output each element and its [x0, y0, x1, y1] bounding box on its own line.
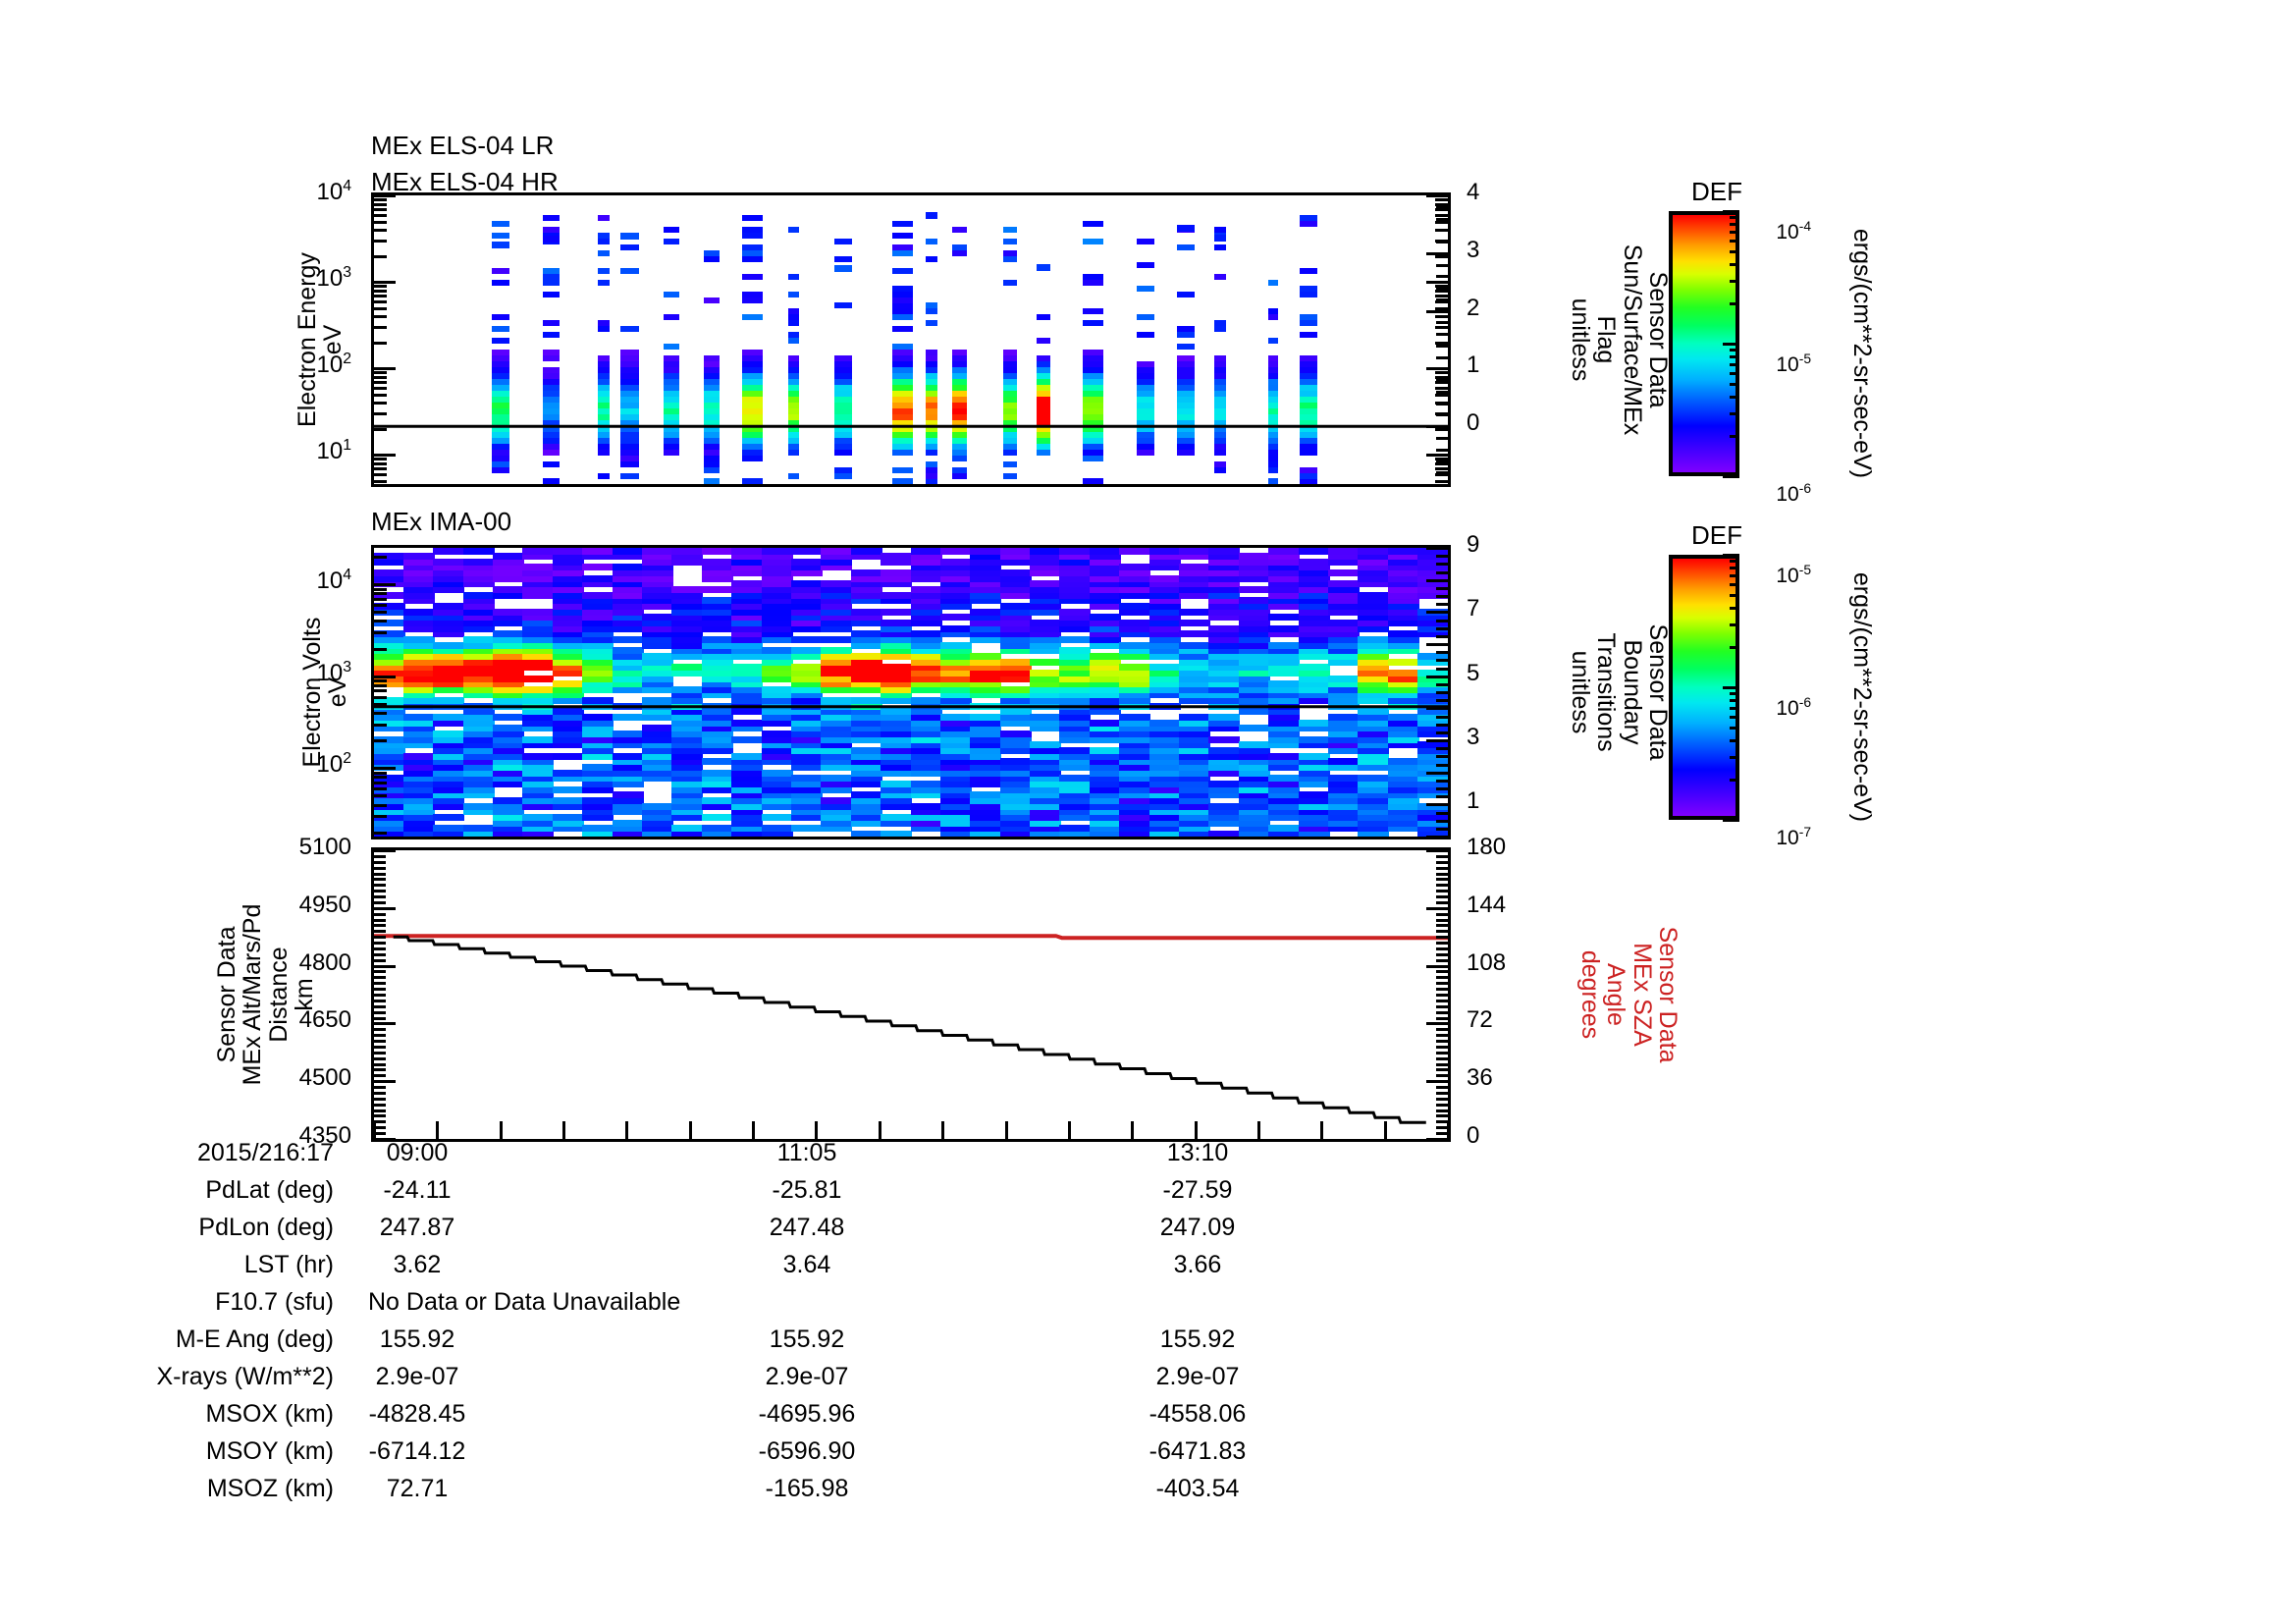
axis-tick [1436, 994, 1448, 997]
cb1-mid-base: 10 [1776, 353, 1798, 376]
axis-tick [374, 679, 387, 682]
axis-tick [374, 598, 387, 601]
axis-tick [1730, 363, 1739, 366]
axis-tick [374, 982, 386, 985]
ima-boundary-tick-9: 9 [1467, 533, 1525, 557]
axis-tick [1436, 895, 1448, 898]
axis-tick [1730, 383, 1739, 386]
els-flag-tick-0: 0 [1467, 411, 1525, 435]
axis-tick [1436, 1034, 1448, 1037]
axis-tick [374, 712, 387, 715]
axis-tick [1436, 795, 1448, 798]
axis-tick [1436, 988, 1448, 991]
axis-tick [879, 1121, 881, 1139]
axis-tick [1436, 595, 1448, 598]
axis-tick [1730, 302, 1739, 305]
cb1-mid-exp: -5 [1799, 351, 1811, 366]
axis-tick [374, 804, 387, 807]
axis-tick [1436, 668, 1448, 671]
axis-tick [1436, 855, 1448, 858]
axis-tick [1730, 250, 1739, 253]
axis-tick [374, 1028, 386, 1031]
parameter-value: 155.92 [1119, 1325, 1276, 1354]
ima-spectrogram-panel[interactable] [371, 545, 1451, 839]
sza-ylabel-right: Sensor Data MEx SZA Angle degrees [1577, 847, 1681, 1142]
axis-tick [374, 832, 387, 835]
axis-tick [1436, 716, 1448, 719]
parameter-value: -4695.96 [728, 1400, 885, 1429]
axis-tick [1426, 252, 1448, 255]
parameter-label: PdLat (deg) [0, 1176, 334, 1205]
axis-tick [1436, 747, 1448, 750]
axis-tick [1068, 1121, 1071, 1139]
axis-tick [1730, 372, 1739, 375]
parameter-value: 155.92 [339, 1325, 496, 1354]
parameter-value: -4828.45 [339, 1400, 496, 1429]
axis-tick [1436, 603, 1448, 606]
parameter-value: 3.64 [728, 1251, 885, 1279]
axis-tick [1730, 355, 1739, 358]
cb1-bot-base: 10 [1776, 483, 1798, 506]
axis-tick [1436, 1017, 1448, 1020]
els-title-hr: MEx ELS-04 HR [371, 169, 559, 194]
axis-tick [1436, 1068, 1448, 1071]
axis-tick [1436, 901, 1448, 904]
axis-tick [1426, 310, 1448, 313]
parameter-value: -6714.12 [339, 1437, 496, 1466]
axis-tick [1436, 699, 1448, 702]
colorbar2-top-label: 10-5 [1753, 545, 1811, 607]
axis-tick [374, 855, 386, 858]
axis-tick [1426, 1022, 1448, 1025]
axis-tick [374, 776, 387, 779]
axis-tick [1436, 241, 1448, 243]
parameter-value: 09:00 [339, 1139, 496, 1167]
axis-tick [1436, 1011, 1448, 1014]
axis-tick [1436, 206, 1448, 209]
axis-tick [1436, 764, 1448, 767]
axis-tick [1436, 651, 1448, 654]
axis-tick [374, 1080, 396, 1083]
axis-tick [1426, 547, 1448, 550]
axis-tick [374, 631, 387, 634]
axis-tick [374, 208, 387, 211]
axis-tick [374, 198, 387, 201]
axis-tick [374, 1074, 386, 1077]
ima-boundary-tick-7: 7 [1467, 597, 1525, 621]
axis-tick [374, 387, 387, 390]
axis-tick [374, 953, 386, 956]
axis-tick [1436, 878, 1448, 881]
els-flag-tick-3: 3 [1467, 239, 1525, 262]
axis-tick [1730, 646, 1739, 649]
axis-tick [1436, 413, 1448, 416]
axis-tick [1426, 907, 1448, 910]
axis-tick [1730, 223, 1739, 226]
altitude-sza-panel[interactable] [371, 847, 1451, 1142]
cb2-mid-exp: -6 [1799, 694, 1811, 710]
axis-tick [374, 930, 386, 933]
sza-tick-36: 36 [1467, 1066, 1535, 1090]
axis-tick [374, 815, 387, 818]
axis-tick [1436, 635, 1448, 638]
axis-tick [1436, 563, 1448, 566]
axis-tick [1436, 884, 1448, 887]
parameter-label: PdLon (deg) [0, 1214, 334, 1242]
cb2-mid-base: 10 [1776, 697, 1798, 720]
colorbar1-title: DEF [1691, 179, 1742, 204]
axis-tick [1426, 1080, 1448, 1083]
axis-tick [1436, 930, 1448, 933]
axis-tick [1435, 198, 1448, 201]
axis-tick [374, 901, 386, 904]
axis-tick [1435, 290, 1448, 293]
axis-tick [1436, 731, 1448, 734]
axis-tick [1730, 692, 1739, 695]
parameter-row: M-E Ang (deg)155.92155.92155.92 [0, 1325, 1571, 1363]
axis-tick [1131, 1121, 1134, 1139]
axis-tick [1723, 686, 1739, 689]
axis-tick [1723, 554, 1739, 557]
axis-tick [1730, 607, 1739, 610]
colorbar2-title: DEF [1691, 522, 1742, 548]
parameter-value: -4558.06 [1119, 1400, 1276, 1429]
axis-tick [1436, 1040, 1448, 1043]
axis-tick [1426, 965, 1448, 968]
ima-ylabel-right: Sensor Data Boundary Transitions unitles… [1568, 545, 1671, 839]
axis-tick [1730, 349, 1739, 352]
axis-tick [374, 739, 387, 742]
parameter-value: 2.9e-07 [728, 1363, 885, 1391]
axis-tick [1426, 454, 1448, 457]
axis-tick [1436, 1000, 1448, 1002]
axis-tick [1436, 970, 1448, 973]
axis-tick [1426, 676, 1448, 678]
ima-boundary-tick-3: 3 [1467, 726, 1525, 749]
axis-tick [1723, 475, 1739, 478]
axis-tick [374, 214, 387, 217]
axis-tick [374, 1046, 386, 1049]
axis-tick [1426, 643, 1448, 646]
axis-tick [1436, 356, 1448, 359]
ima-boundary-tick-1: 1 [1467, 789, 1525, 813]
parameter-value: 3.66 [1119, 1251, 1276, 1279]
els-spectrogram-panel[interactable] [371, 192, 1451, 487]
axis-tick [374, 342, 387, 345]
parameter-label: MSOX (km) [0, 1400, 334, 1429]
cb2-bot-base: 10 [1776, 827, 1798, 849]
axis-tick [689, 1121, 692, 1139]
parameter-label: X-rays (W/m**2) [0, 1363, 334, 1391]
axis-tick [1436, 571, 1448, 574]
axis-tick [374, 703, 387, 706]
axis-tick [1730, 583, 1739, 586]
axis-tick [1436, 787, 1448, 790]
axis-tick [374, 1017, 386, 1020]
parameter-value: -24.11 [339, 1176, 496, 1205]
axis-tick [374, 480, 387, 483]
axis-tick [1426, 425, 1448, 428]
axis-tick [374, 583, 396, 586]
parameter-value: 247.48 [728, 1214, 885, 1242]
parameter-value: 155.92 [728, 1325, 885, 1354]
els-ylabel-right: Sensor Data Sun/Surface/MEx Flag unitles… [1568, 192, 1671, 487]
axis-tick [1195, 1121, 1198, 1139]
axis-tick [815, 1121, 818, 1139]
colorbar2-mid-label: 10-6 [1753, 677, 1811, 739]
axis-tick [1436, 229, 1448, 232]
axis-tick [1435, 480, 1448, 483]
axis-tick [374, 402, 387, 405]
parameter-value: -25.81 [728, 1176, 885, 1205]
altitude-ylabel-left: Sensor Data MEx Alt/Mars/Pd Distance km [214, 847, 317, 1142]
axis-tick [1436, 947, 1448, 950]
axis-tick [1435, 221, 1448, 224]
axis-tick [1005, 1121, 1008, 1139]
axis-tick [374, 1005, 386, 1008]
axis-tick [374, 592, 387, 595]
axis-tick [1435, 214, 1448, 217]
axis-tick [374, 428, 387, 431]
axis-tick [1730, 263, 1739, 266]
axis-tick [1436, 812, 1448, 815]
axis-tick [374, 1098, 386, 1101]
axis-tick [1730, 574, 1739, 577]
cb2-bot-exp: -7 [1799, 824, 1811, 839]
colorbar2-bot-label: 10-7 [1753, 807, 1811, 869]
axis-tick [1436, 1092, 1448, 1095]
axis-tick [374, 965, 396, 968]
axis-tick [1723, 819, 1739, 822]
axis-tick [1730, 280, 1739, 283]
parameter-label: LST (hr) [0, 1251, 334, 1279]
axis-tick [374, 255, 387, 258]
axis-tick [1426, 836, 1448, 839]
axis-tick [1426, 194, 1448, 197]
axis-tick [374, 1011, 386, 1014]
axis-tick [1436, 1086, 1448, 1089]
parameter-label: MSOY (km) [0, 1437, 334, 1466]
cb1-top-base: 10 [1776, 221, 1798, 243]
axis-tick [374, 412, 387, 415]
axis-tick [374, 620, 387, 622]
axis-tick [374, 1086, 386, 1089]
colorbar2-unit: ergs/(cm**2-sr-sec-eV) [1849, 555, 1875, 839]
axis-tick [1730, 779, 1739, 782]
axis-tick [374, 970, 386, 973]
axis-tick [1436, 345, 1448, 348]
axis-tick [1730, 567, 1739, 569]
axis-tick [374, 221, 387, 224]
axis-tick [1436, 1098, 1448, 1101]
els-flag-tick-2: 2 [1467, 297, 1525, 320]
axis-tick [1436, 873, 1448, 876]
axis-tick [1436, 913, 1448, 916]
parameter-row: LST (hr)3.623.643.66 [0, 1251, 1571, 1288]
axis-tick [374, 458, 387, 460]
axis-tick [1436, 1063, 1448, 1066]
parameter-value: -6471.83 [1119, 1437, 1276, 1466]
axis-tick [374, 1040, 386, 1043]
axis-tick [1384, 1121, 1387, 1139]
axis-tick [374, 684, 387, 687]
ima-boundary-tick-5: 5 [1467, 662, 1525, 685]
axis-tick [374, 300, 387, 303]
axis-tick [1426, 367, 1448, 370]
axis-tick [1436, 890, 1448, 893]
axis-tick [374, 724, 387, 727]
axis-tick [1436, 724, 1448, 727]
parameter-row: MSOX (km)-4828.45-4695.96-4558.06 [0, 1400, 1571, 1437]
els-flag-tick-1: 1 [1467, 353, 1525, 377]
axis-tick [1426, 739, 1448, 742]
parameter-value: 3.62 [339, 1251, 496, 1279]
axis-tick [1426, 707, 1448, 710]
axis-tick [374, 1092, 386, 1095]
axis-tick [374, 924, 386, 927]
cb1-bot-exp: -6 [1799, 480, 1811, 496]
axis-tick [374, 873, 386, 876]
axis-tick [374, 285, 387, 288]
parameter-row: 2015/216:1709:0011:0513:10 [0, 1139, 1571, 1176]
axis-tick [374, 861, 386, 864]
parameter-value: 247.09 [1119, 1214, 1276, 1242]
axis-tick [373, 1121, 376, 1139]
axis-tick [1436, 976, 1448, 979]
axis-tick [1730, 396, 1739, 399]
axis-tick [374, 772, 387, 775]
axis-tick [1436, 620, 1448, 622]
axis-tick [1436, 780, 1448, 783]
parameter-row: MSOZ (km)72.71-165.98-403.54 [0, 1475, 1571, 1512]
axis-tick [1426, 579, 1448, 582]
axis-tick [1426, 803, 1448, 806]
axis-tick [374, 462, 387, 465]
axis-tick [1436, 953, 1448, 956]
axis-tick [374, 890, 386, 893]
axis-tick [374, 240, 387, 243]
axis-tick [1436, 627, 1448, 630]
axis-tick [374, 787, 387, 790]
axis-tick [374, 1057, 386, 1060]
axis-tick [1436, 1005, 1448, 1008]
axis-tick [1436, 1057, 1448, 1060]
axis-tick [1730, 699, 1739, 702]
axis-tick [1436, 1104, 1448, 1107]
axis-tick [374, 1109, 386, 1112]
axis-tick [374, 942, 386, 945]
els-title-lr: MEx ELS-04 LR [371, 133, 554, 158]
parameter-row: F10.7 (sfu)No Data or Data Unavailable [0, 1288, 1571, 1325]
axis-tick [374, 936, 386, 939]
parameter-table: 2015/216:1709:0011:0513:10PdLat (deg)-24… [0, 1139, 1571, 1512]
axis-tick [1730, 240, 1739, 243]
axis-tick [1436, 867, 1448, 870]
axis-tick [1730, 216, 1739, 219]
axis-tick [1436, 298, 1448, 301]
sza-tick-108: 108 [1467, 951, 1535, 975]
colorbar1-unit: ergs/(cm**2-sr-sec-eV) [1849, 211, 1875, 496]
axis-tick [374, 767, 396, 770]
colorbar1-bot-label: 10-6 [1753, 463, 1811, 525]
parameter-label: F10.7 (sfu) [0, 1288, 334, 1317]
axis-tick [374, 1022, 396, 1025]
axis-tick [1730, 435, 1739, 438]
axis-tick [1436, 691, 1448, 694]
axis-tick [1435, 462, 1448, 465]
axis-tick [1730, 623, 1739, 626]
axis-tick [1436, 437, 1448, 440]
axis-tick [374, 467, 387, 470]
axis-tick [1436, 982, 1448, 985]
axis-tick [1436, 333, 1448, 336]
axis-tick [1436, 1074, 1448, 1077]
axis-tick [1435, 326, 1448, 329]
axis-tick [1436, 936, 1448, 939]
axis-tick [374, 947, 386, 950]
axis-tick [1436, 403, 1448, 406]
axis-tick [1435, 315, 1448, 318]
axis-tick [374, 878, 386, 881]
axis-tick [1436, 861, 1448, 864]
axis-tick [1436, 379, 1448, 382]
axis-tick [1436, 755, 1448, 758]
axis-tick [562, 1121, 565, 1139]
axis-tick [1435, 255, 1448, 258]
ima-title: MEx IMA-00 [371, 509, 511, 534]
axis-tick [374, 454, 396, 457]
axis-tick [374, 1104, 386, 1107]
axis-tick [1435, 387, 1448, 390]
axis-tick [1723, 343, 1739, 346]
axis-tick [374, 371, 387, 374]
axis-tick [1730, 739, 1739, 742]
axis-tick [1436, 1109, 1448, 1112]
parameter-label: M-E Ang (deg) [0, 1325, 334, 1354]
axis-tick [1730, 560, 1739, 563]
axis-tick [374, 194, 396, 197]
parameter-value: 72.71 [339, 1475, 496, 1503]
parameter-row: PdLon (deg)247.87247.48247.09 [0, 1214, 1571, 1251]
axis-tick [1730, 716, 1739, 719]
sza-tick-72: 72 [1467, 1008, 1535, 1032]
axis-tick [1436, 1114, 1448, 1117]
axis-tick [374, 1052, 386, 1055]
axis-tick [625, 1121, 628, 1139]
parameter-value: 247.87 [339, 1214, 496, 1242]
els-flag-tick-4: 4 [1467, 181, 1525, 204]
axis-tick [374, 281, 396, 284]
axis-tick [374, 782, 387, 784]
axis-tick [1730, 594, 1739, 597]
axis-tick [941, 1121, 944, 1139]
parameter-value: 2.9e-07 [1119, 1363, 1276, 1391]
axis-tick [1436, 391, 1448, 394]
axis-tick [1436, 587, 1448, 590]
parameter-value: 2.9e-07 [339, 1363, 496, 1391]
sza-tick-144: 144 [1467, 893, 1535, 917]
axis-tick [374, 376, 387, 379]
axis-tick [1436, 959, 1448, 962]
axis-tick [1436, 1052, 1448, 1055]
parameter-label: MSOZ (km) [0, 1475, 334, 1503]
axis-tick [1435, 371, 1448, 374]
axis-tick [1436, 942, 1448, 945]
axis-tick [1436, 1046, 1448, 1049]
axis-tick [374, 611, 387, 614]
axis-tick [1436, 287, 1448, 290]
axis-tick [500, 1121, 503, 1139]
